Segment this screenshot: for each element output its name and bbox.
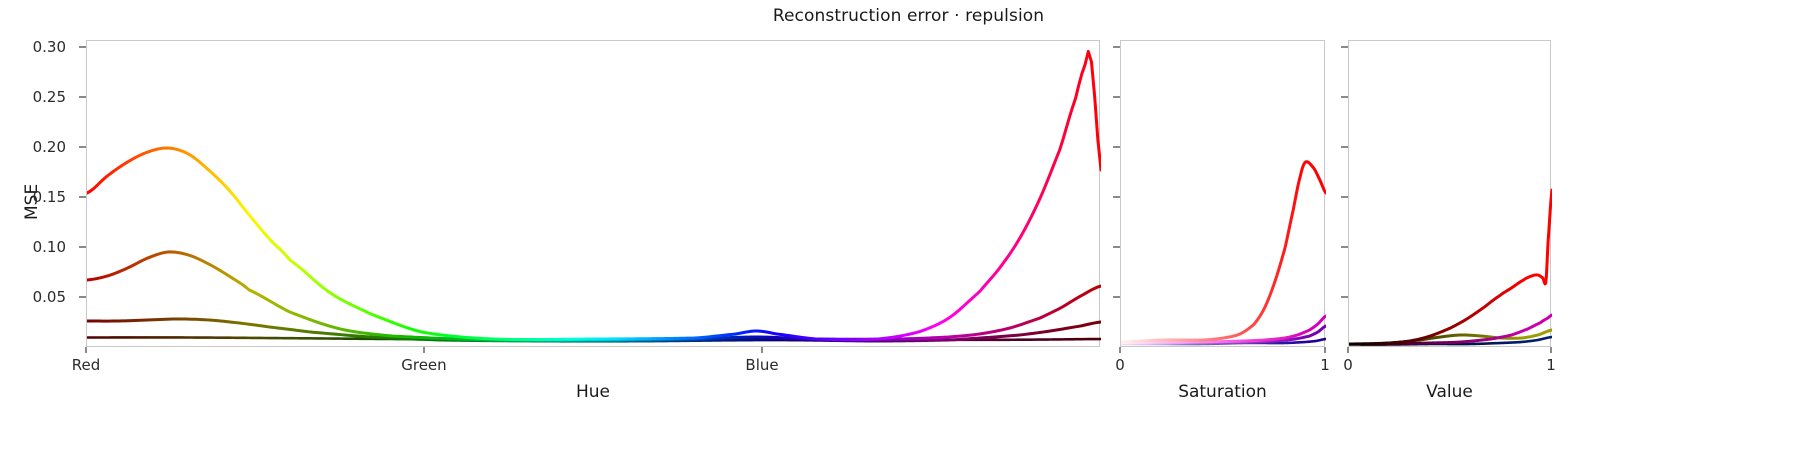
x-tick-label: 1: [1320, 356, 1330, 374]
x-tick-mark: [1347, 347, 1349, 353]
y-tick-mark: [79, 296, 86, 298]
x-tick-label: Blue: [745, 356, 778, 374]
y-tick-mark: [1341, 46, 1348, 48]
plot-lines-saturation: [1121, 41, 1326, 348]
figure-root: Reconstruction error · repulsion MSE 0.0…: [0, 0, 1817, 467]
line-hue-curve-1: [87, 51, 1101, 339]
panel-hue: [86, 40, 1100, 347]
y-tick-mark: [79, 96, 86, 98]
y-tick-mark: [79, 246, 86, 248]
y-tick-mark: [79, 46, 86, 48]
plot-lines-hue: [87, 41, 1101, 348]
panel-value: [1348, 40, 1551, 347]
panel-saturation: [1120, 40, 1325, 347]
y-tick-label: 0.30: [0, 38, 66, 56]
line-hue-curve-2: [87, 252, 1101, 340]
line-value-curve-1: [1349, 190, 1552, 344]
y-tick-label: 0.15: [0, 188, 66, 206]
x-tick-label: Red: [72, 356, 101, 374]
y-tick-mark: [1113, 96, 1120, 98]
y-tick-label: 0.20: [0, 138, 66, 156]
y-tick-mark: [79, 146, 86, 148]
plot-lines-value: [1349, 41, 1552, 348]
y-tick-mark: [1113, 146, 1120, 148]
x-tick-label: 0: [1115, 356, 1125, 374]
y-tick-mark: [1341, 296, 1348, 298]
y-tick-mark: [1113, 296, 1120, 298]
x-tick-mark: [1119, 347, 1121, 353]
x-tick-label: 1: [1546, 356, 1556, 374]
x-axis-label-hue: Hue: [576, 382, 610, 402]
y-tick-mark: [1113, 246, 1120, 248]
x-tick-mark: [1324, 347, 1326, 353]
y-tick-mark: [79, 196, 86, 198]
y-tick-mark: [1341, 196, 1348, 198]
line-saturation-curve-1: [1121, 162, 1326, 342]
y-tick-mark: [1341, 146, 1348, 148]
y-tick-label: 0.10: [0, 238, 66, 256]
y-tick-mark: [1113, 46, 1120, 48]
x-tick-label: 0: [1343, 356, 1353, 374]
x-axis-label-saturation: Saturation: [1178, 382, 1267, 402]
x-tick-mark: [423, 347, 425, 353]
y-tick-mark: [1113, 196, 1120, 198]
x-tick-label: Green: [401, 356, 446, 374]
x-axis-label-value: Value: [1426, 382, 1473, 402]
y-tick-mark: [1341, 246, 1348, 248]
figure-title: Reconstruction error · repulsion: [0, 6, 1817, 26]
y-tick-label: 0.05: [0, 288, 66, 306]
y-tick-mark: [1341, 96, 1348, 98]
x-tick-mark: [85, 347, 87, 353]
x-tick-mark: [1550, 347, 1552, 353]
y-tick-label: 0.25: [0, 88, 66, 106]
x-tick-mark: [761, 347, 763, 353]
